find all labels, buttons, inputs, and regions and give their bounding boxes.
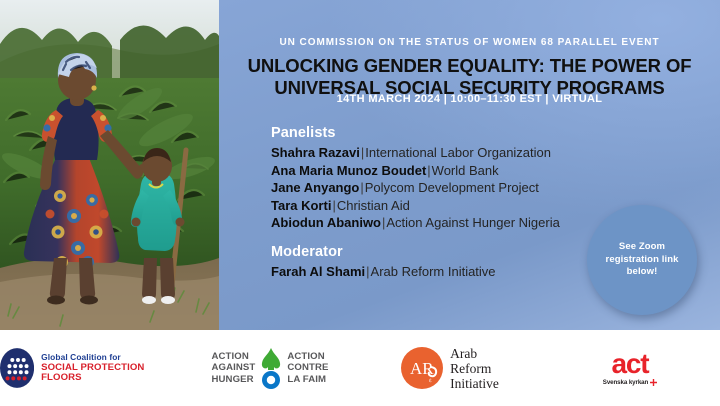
- person-org: Action Against Hunger Nigeria: [386, 215, 559, 230]
- event-datetime: 14TH MARCH 2024 | 10:00–11:30 EST | VIRT…: [219, 93, 720, 105]
- person-org: Christian Aid: [337, 198, 410, 213]
- logo-arab-reform-initiative[interactable]: AR ع Arab Reform Initiative: [360, 330, 540, 406]
- logo-global-coalition-social-protection-floors[interactable]: Global Coalition for SOCIAL PROTECTION F…: [0, 330, 180, 406]
- logo-text: Arab Reform Initiative: [450, 346, 499, 391]
- logo-caption-line-1: Global Coalition for: [41, 353, 180, 362]
- hero-photo: [0, 0, 219, 330]
- list-item: Ana Maria Munoz Boudet|World Bank: [271, 162, 671, 180]
- hero-photo-illustration: [0, 0, 219, 330]
- person-org: International Labor Organization: [365, 145, 551, 160]
- event-flyer: UN COMMISSION ON THE STATUS OF WOMEN 68 …: [0, 0, 720, 406]
- logo-caption-line-2: SOCIAL PROTECTION FLOORS: [41, 363, 180, 383]
- page-title: UNLOCKING GENDER EQUALITY: THE POWER OF …: [231, 55, 708, 98]
- person-name: Jane Anyango: [271, 180, 359, 195]
- logo-wordmark: act: [603, 351, 657, 377]
- person-name: Shahra Razavi: [271, 145, 360, 160]
- partner-logo-bar: Global Coalition for SOCIAL PROTECTION F…: [0, 330, 720, 406]
- list-item: Jane Anyango|Polycom Development Project: [271, 179, 671, 197]
- logo-text-french: ACTION CONTRE LA FAIM: [287, 351, 328, 385]
- person-org: World Bank: [432, 163, 499, 178]
- zoom-registration-badge-label: See Zoom registration link below!: [587, 241, 697, 279]
- list-item: Shahra Razavi|International Labor Organi…: [271, 144, 671, 162]
- green-leaf-blue-ring-icon: [258, 346, 284, 390]
- logo-line: CONTRE: [287, 362, 328, 373]
- logo-line: ACTION: [287, 351, 328, 362]
- logo-line: AGAINST: [212, 362, 256, 373]
- red-cross-icon: [650, 379, 657, 386]
- logo-line: Reform: [450, 361, 499, 376]
- navy-circle-dots-icon: [0, 347, 34, 389]
- zoom-registration-badge[interactable]: See Zoom registration link below!: [587, 205, 697, 315]
- logo-action-against-hunger[interactable]: ACTION AGAINST HUNGER ACTION CONTRE LA F…: [180, 330, 360, 406]
- person-name: Ana Maria Munoz Boudet: [271, 163, 426, 178]
- logo-text-english: ACTION AGAINST HUNGER: [212, 351, 256, 385]
- list-item: Tara Korti|Christian Aid: [271, 197, 671, 215]
- person-name: Farah Al Shami: [271, 264, 365, 279]
- panelists-heading: Panelists: [271, 124, 671, 143]
- logo-line: LA FAIM: [287, 374, 328, 385]
- logo-subtitle: Svenska kyrkan: [603, 379, 648, 386]
- content-panel: UN COMMISSION ON THE STATUS OF WOMEN 68 …: [219, 0, 720, 330]
- logo-line: Initiative: [450, 376, 499, 391]
- logo-line: HUNGER: [212, 374, 256, 385]
- title-line-1: UNLOCKING GENDER EQUALITY: THE POWER OF: [231, 55, 708, 77]
- event-kicker: UN COMMISSION ON THE STATUS OF WOMEN 68 …: [219, 36, 720, 50]
- person-name: Tara Korti: [271, 198, 331, 213]
- person-name: Abiodun Abaniwo: [271, 215, 381, 230]
- logo-act-svenska-kyrkan[interactable]: act Svenska kyrkan: [540, 330, 720, 406]
- logo-line: ACTION: [212, 351, 256, 362]
- orange-circle-ar-icon: AR ع: [401, 347, 443, 389]
- person-org: Polycom Development Project: [365, 180, 539, 195]
- person-org: Arab Reform Initiative: [371, 264, 496, 279]
- logo-line: Arab: [450, 346, 499, 361]
